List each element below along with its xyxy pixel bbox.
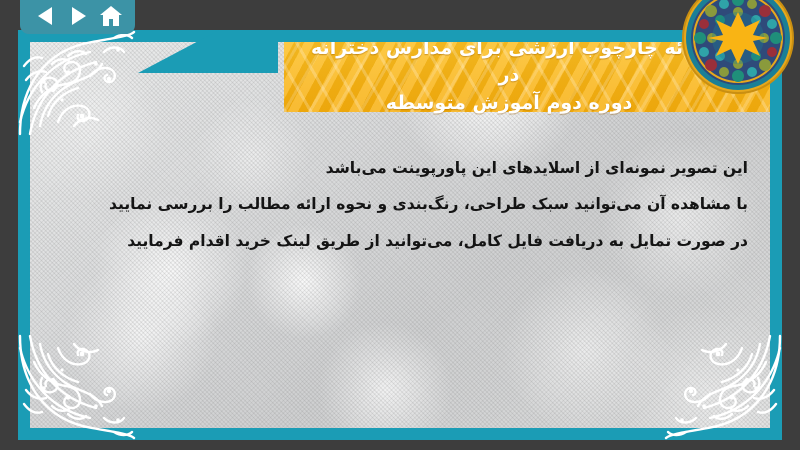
triangle-left-icon bbox=[35, 5, 55, 27]
slide-body-text: این تصویر نمونه‌ای از اسلایدهای این پاور… bbox=[60, 150, 748, 259]
body-line-3: در صورت تمایل به دریافت فایل کامل، می‌تو… bbox=[60, 223, 748, 259]
triangle-right-icon bbox=[68, 5, 88, 27]
slide-title: ارائه چارچوب ارزشی برای مدارس دخترانه در… bbox=[298, 42, 720, 117]
slide-frame: ارائه چارچوب ارزشی برای مدارس دخترانه در… bbox=[18, 30, 782, 440]
slide-viewer: ارائه چارچوب ارزشی برای مدارس دخترانه در… bbox=[0, 0, 800, 450]
persian-star-medallion-icon bbox=[682, 0, 794, 94]
navigation-bar bbox=[20, 0, 135, 34]
home-button[interactable] bbox=[98, 3, 124, 29]
home-icon bbox=[99, 5, 123, 28]
slide-canvas: ارائه چارچوب ارزشی برای مدارس دخترانه در… bbox=[30, 42, 770, 428]
next-slide-button[interactable] bbox=[65, 3, 91, 29]
previous-slide-button[interactable] bbox=[32, 3, 58, 29]
body-line-1: این تصویر نمونه‌ای از اسلایدهای این پاور… bbox=[60, 150, 748, 186]
body-line-2: با مشاهده آن می‌توانید سبک طراحی، رنگ‌بن… bbox=[60, 186, 748, 222]
